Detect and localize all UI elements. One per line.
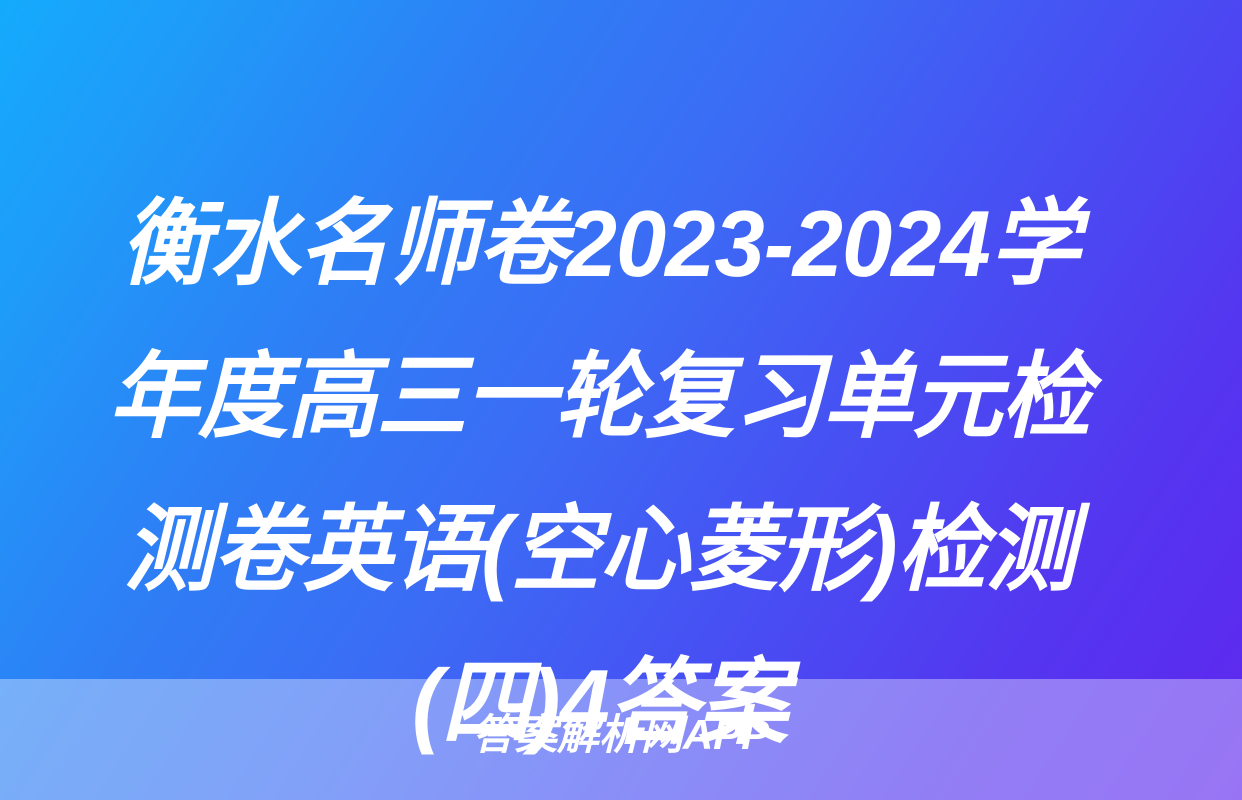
app-brand-label: 答案解析网APP <box>0 710 1242 760</box>
page-title: 衡水名师卷2023-2024学年度高三一轮复习单元检测卷英语(空心菱形)检测(四… <box>88 167 1111 779</box>
answer-key-poster: 衡水名师卷2023-2024学年度高三一轮复习单元检测卷英语(空心菱形)检测(四… <box>0 0 1242 800</box>
